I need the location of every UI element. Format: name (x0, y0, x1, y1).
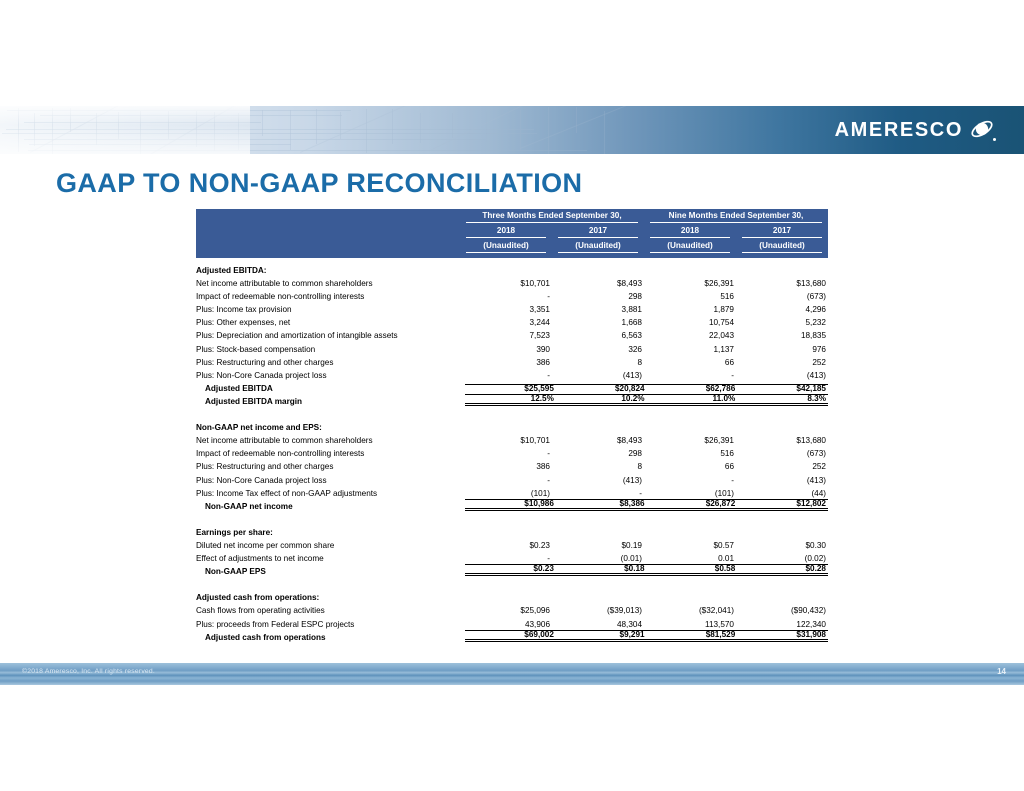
row-value: - (460, 555, 552, 563)
row-value: 390 (460, 346, 552, 354)
row-value: $10,986 (465, 499, 556, 511)
row-value: 3,881 (552, 306, 644, 314)
row-value: (101) (644, 490, 736, 498)
table-row: Plus: Stock-based compensation3903261,13… (196, 341, 828, 354)
row-value: 66 (644, 359, 736, 367)
row-label: Plus: Non-Core Canada project loss (196, 477, 460, 485)
row-value: 10,754 (644, 319, 736, 327)
row-value: $26,391 (644, 280, 736, 288)
reconciliation-table: Three Months Ended September 30, Nine Mo… (196, 209, 828, 642)
row-value: - (552, 490, 644, 498)
row-value: - (644, 372, 736, 380)
row-value: 8.3% (737, 394, 828, 406)
header-audit-2: (Unaudited) (644, 242, 736, 255)
header-group-nine-months: Nine Months Ended September 30, (644, 212, 828, 225)
logo-registered-dot (993, 138, 996, 141)
row-label: Non-GAAP EPS (196, 568, 465, 576)
row-value: 516 (644, 293, 736, 301)
row-value: $0.28 (737, 564, 828, 576)
section-heading-row: Adjusted EBITDA: (196, 262, 828, 275)
header-audit-row: (Unaudited) (Unaudited) (Unaudited) (Una… (196, 240, 828, 258)
section-heading: Adjusted cash from operations: (196, 594, 460, 602)
row-value: 5,232 (736, 319, 828, 327)
row-value: 22,043 (644, 332, 736, 340)
row-value: $0.18 (556, 564, 647, 576)
row-value: - (644, 477, 736, 485)
logo-wordmark: AMERESCO (835, 119, 963, 142)
table-row: Impact of redeemable non-controlling int… (196, 288, 828, 301)
table-row: Plus: Income Tax effect of non-GAAP adju… (196, 485, 828, 498)
table-row: Impact of redeemable non-controlling int… (196, 445, 828, 458)
row-value: 48,304 (552, 621, 644, 629)
row-value: (44) (736, 490, 828, 498)
row-value: 122,340 (736, 621, 828, 629)
row-value: 252 (736, 359, 828, 367)
row-label: Diluted net income per common share (196, 542, 460, 550)
row-value: 0.01 (644, 555, 736, 563)
table-row: Adjusted EBITDA margin12.5%10.2%11.0%8.3… (196, 393, 828, 406)
row-value: $26,872 (647, 499, 738, 511)
header-audit-3: (Unaudited) (736, 242, 828, 255)
row-label: Net income attributable to common shareh… (196, 280, 460, 288)
table-row: Non-GAAP net income$10,986$8,386$26,872$… (196, 498, 828, 511)
row-value: (673) (736, 293, 828, 301)
row-value: $25,096 (460, 607, 552, 615)
row-value: 1,879 (644, 306, 736, 314)
table-row: Plus: proceeds from Federal ESPC project… (196, 616, 828, 629)
row-value: 386 (460, 359, 552, 367)
row-value: 43,906 (460, 621, 552, 629)
copyright-text: ©2018 Ameresco, Inc. All rights reserved… (22, 668, 155, 675)
header-group-row: Three Months Ended September 30, Nine Mo… (196, 212, 828, 225)
row-value: - (460, 450, 552, 458)
row-label: Plus: Restructuring and other charges (196, 463, 460, 471)
row-value: $8,493 (552, 437, 644, 445)
section-heading-row: Earnings per share: (196, 524, 828, 537)
row-value: $31,908 (737, 630, 828, 642)
row-value: (413) (552, 372, 644, 380)
row-value: $62,786 (647, 384, 738, 393)
row-value: 386 (460, 463, 552, 471)
banner-fade-overlay (0, 106, 250, 154)
row-value: 10.2% (556, 394, 647, 406)
row-value: 298 (552, 293, 644, 301)
row-value: (101) (460, 490, 552, 498)
table-row: Effect of adjustments to net income-(0.0… (196, 550, 828, 563)
row-label: Net income attributable to common shareh… (196, 437, 460, 445)
row-value: $0.23 (460, 542, 552, 550)
table-row: Plus: Depreciation and amortization of i… (196, 328, 828, 341)
row-label: Plus: Income tax provision (196, 306, 460, 314)
table-row: Adjusted cash from operations$69,002$9,2… (196, 629, 828, 642)
table-header: Three Months Ended September 30, Nine Mo… (196, 209, 828, 258)
row-value: $13,680 (736, 280, 828, 288)
table-body: Adjusted EBITDA:Net income attributable … (196, 258, 828, 642)
ameresco-orbit-icon (970, 118, 996, 142)
row-value: 298 (552, 450, 644, 458)
row-value: ($32,041) (644, 607, 736, 615)
header-audit-1: (Unaudited) (552, 242, 644, 255)
row-value: (413) (552, 477, 644, 485)
row-value: 976 (736, 346, 828, 354)
row-value: - (460, 477, 552, 485)
row-value: (413) (736, 477, 828, 485)
row-value: $0.23 (465, 564, 556, 576)
row-label: Adjusted cash from operations (196, 634, 465, 642)
row-value: (0.02) (736, 555, 828, 563)
section-heading: Earnings per share: (196, 529, 460, 537)
header-year-0: 2018 (460, 227, 552, 240)
row-label: Plus: Depreciation and amortization of i… (196, 332, 460, 340)
row-value: 8 (552, 463, 644, 471)
table-row: Net income attributable to common shareh… (196, 432, 828, 445)
row-value: ($90,432) (736, 607, 828, 615)
row-value: $10,701 (460, 280, 552, 288)
row-value: $9,291 (556, 630, 647, 642)
row-value: - (460, 293, 552, 301)
row-label: Plus: Stock-based compensation (196, 346, 460, 354)
row-label: Plus: Non-Core Canada project loss (196, 372, 460, 380)
page-number: 14 (997, 667, 1006, 676)
row-value: 8 (552, 359, 644, 367)
section-spacer (196, 576, 828, 589)
section-heading: Non-GAAP net income and EPS: (196, 424, 460, 432)
row-value: 12.5% (465, 394, 556, 406)
section-heading-row: Adjusted cash from operations: (196, 589, 828, 602)
table-row: Diluted net income per common share$0.23… (196, 537, 828, 550)
row-value: $0.57 (644, 542, 736, 550)
row-value: $8,386 (556, 499, 647, 511)
row-label: Cash flows from operating activities (196, 607, 460, 615)
header-year-1: 2017 (552, 227, 644, 240)
section-spacer (196, 406, 828, 419)
table-row: Plus: Non-Core Canada project loss-(413)… (196, 472, 828, 485)
table-row: Adjusted EBITDA$25,595$20,824$62,786$42,… (196, 380, 828, 393)
row-value: 113,570 (644, 621, 736, 629)
row-value: $69,002 (465, 630, 556, 642)
table-row: Plus: Restructuring and other charges386… (196, 354, 828, 367)
header-group-three-months: Three Months Ended September 30, (460, 212, 644, 225)
row-label: Impact of redeemable non-controlling int… (196, 450, 460, 458)
row-value: 7,523 (460, 332, 552, 340)
row-value: $13,680 (736, 437, 828, 445)
row-value: $81,529 (647, 630, 738, 642)
row-value: $0.19 (552, 542, 644, 550)
row-value: 3,351 (460, 306, 552, 314)
row-value: $12,802 (737, 499, 828, 511)
row-value: 252 (736, 463, 828, 471)
table-row: Plus: Non-Core Canada project loss-(413)… (196, 367, 828, 380)
row-label: Plus: Other expenses, net (196, 319, 460, 327)
row-value: 516 (644, 450, 736, 458)
row-value: (0.01) (552, 555, 644, 563)
header-year-row: 2018 2017 2018 2017 (196, 225, 828, 240)
header-year-2: 2018 (644, 227, 736, 240)
section-heading-row: Non-GAAP net income and EPS: (196, 419, 828, 432)
row-label: Plus: proceeds from Federal ESPC project… (196, 621, 460, 629)
row-value: $8,493 (552, 280, 644, 288)
row-label: Plus: Income Tax effect of non-GAAP adju… (196, 490, 460, 498)
row-value: 6,563 (552, 332, 644, 340)
row-value: $10,701 (460, 437, 552, 445)
row-value: 1,137 (644, 346, 736, 354)
row-value: $0.58 (647, 564, 738, 576)
row-label: Impact of redeemable non-controlling int… (196, 293, 460, 301)
table-row: Plus: Income tax provision3,3513,8811,87… (196, 301, 828, 314)
row-value: 66 (644, 463, 736, 471)
row-value: 18,835 (736, 332, 828, 340)
row-value: $25,595 (465, 384, 556, 393)
header-audit-0: (Unaudited) (460, 242, 552, 255)
row-value: $26,391 (644, 437, 736, 445)
section-spacer (196, 511, 828, 524)
row-value: 326 (552, 346, 644, 354)
row-value: 1,668 (552, 319, 644, 327)
row-value: ($39,013) (552, 607, 644, 615)
row-value: $42,185 (737, 384, 828, 393)
table-row: Cash flows from operating activities$25,… (196, 603, 828, 616)
row-value: $0.30 (736, 542, 828, 550)
page-title: GAAP TO NON-GAAP RECONCILIATION (56, 168, 582, 199)
section-heading: Adjusted EBITDA: (196, 267, 460, 275)
row-value: 11.0% (647, 394, 738, 406)
row-label: Adjusted EBITDA (196, 385, 465, 393)
header-year-3: 2017 (736, 227, 828, 240)
header-label-spacer (196, 212, 460, 225)
table-row: Net income attributable to common shareh… (196, 275, 828, 288)
row-value: $20,824 (556, 384, 647, 393)
ameresco-logo: AMERESCO (835, 118, 996, 142)
row-value: - (460, 372, 552, 380)
row-value: (413) (736, 372, 828, 380)
row-label: Non-GAAP net income (196, 503, 465, 511)
row-value: 4,296 (736, 306, 828, 314)
table-row: Non-GAAP EPS$0.23$0.18$0.58$0.28 (196, 563, 828, 576)
row-label: Adjusted EBITDA margin (196, 398, 465, 406)
row-value: 3,244 (460, 319, 552, 327)
row-label: Plus: Restructuring and other charges (196, 359, 460, 367)
table-row: Plus: Other expenses, net3,2441,66810,75… (196, 314, 828, 327)
table-row: Plus: Restructuring and other charges386… (196, 459, 828, 472)
row-value: (673) (736, 450, 828, 458)
row-label: Effect of adjustments to net income (196, 555, 460, 563)
